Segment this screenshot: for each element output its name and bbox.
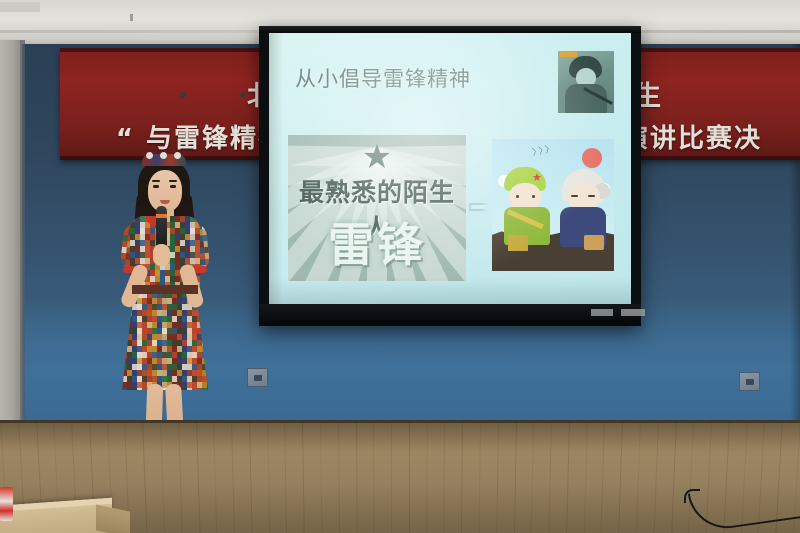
banner-clip — [180, 92, 186, 98]
projection-screen: 从小倡导雷锋精神 ★ 最熟悉的陌生人 雷锋 — [259, 26, 641, 326]
wall-outlet-right[interactable] — [739, 372, 760, 391]
microphone-band — [156, 214, 167, 218]
portrait-tag — [560, 52, 577, 57]
wall-pillar-edge — [20, 40, 25, 424]
slide-title: 从小倡导雷锋精神 — [295, 63, 471, 93]
headband-bead — [146, 152, 153, 159]
banner-left: 北 “ 与雷锋精神 — [60, 48, 282, 160]
ceiling-vent — [0, 2, 40, 12]
banner-left-line2: “ 与雷锋精神 — [116, 118, 282, 155]
screen-frame-bottom — [259, 304, 641, 326]
wall-pillar-left — [0, 40, 22, 424]
eyebrow — [152, 180, 160, 182]
hand — [153, 244, 170, 266]
lei-feng-portrait — [558, 51, 614, 113]
banner-clip — [240, 92, 246, 98]
screen-vignette — [269, 278, 631, 304]
headband-bead — [160, 152, 167, 159]
eye — [153, 185, 159, 188]
slide-cartoon-image: 〉〉〉 ★ — [492, 139, 614, 271]
red-object-on-table — [0, 487, 13, 521]
face — [148, 170, 182, 212]
soldier-bag — [508, 235, 528, 251]
star-glyph: ★ — [360, 140, 394, 174]
floor-wall-edge — [0, 420, 800, 423]
elderly-eye — [588, 195, 595, 197]
soldier-eye — [532, 195, 535, 198]
banner-right: 生 演讲比赛决 — [628, 48, 800, 160]
screen-surface: 从小倡导雷锋精神 ★ 最熟悉的陌生人 雷锋 — [269, 33, 631, 304]
screen-label-sticker — [591, 309, 613, 316]
slide-poster-image: ★ 最熟悉的陌生人 雷锋 — [288, 135, 466, 281]
cap-star-icon: ★ — [532, 173, 541, 182]
elderly-eye — [571, 195, 578, 197]
sun-icon — [582, 148, 602, 168]
elderly-basket — [584, 235, 604, 250]
banner-right-line2: 演讲比赛决 — [628, 118, 762, 155]
birds-icon: 〉〉〉 — [531, 141, 557, 159]
soldier-eye — [516, 195, 519, 198]
screen-label-sticker — [621, 309, 645, 316]
belt — [132, 285, 198, 294]
auditorium-scene: 北 “ 与雷锋精神 生 演讲比赛决 从小倡导雷锋精神 ★ — [0, 0, 800, 533]
headband-bead — [174, 152, 181, 159]
wall-outlet-left[interactable] — [247, 368, 268, 387]
eye — [170, 185, 176, 188]
screen-edge-shadow — [269, 33, 283, 304]
ceiling-hook — [130, 14, 133, 21]
eyebrow — [169, 180, 177, 182]
screen-frame-top — [259, 26, 641, 33]
poster-line2: 雷锋 — [288, 209, 466, 275]
floor-cable-loop — [684, 489, 700, 503]
